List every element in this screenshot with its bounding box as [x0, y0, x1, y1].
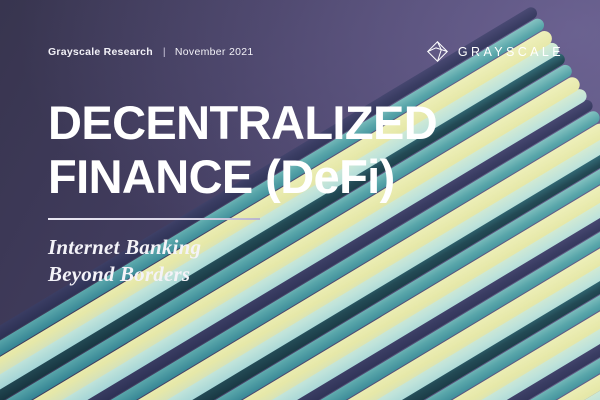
- title-block: DECENTRALIZED FINANCE (DeFi): [48, 96, 588, 204]
- subtitle-line-2: Beyond Borders: [48, 261, 448, 288]
- title-line-2: FINANCE (DeFi): [48, 150, 588, 204]
- publisher-name: Grayscale Research: [48, 46, 153, 58]
- subtitle-line-1: Internet Banking: [48, 235, 201, 259]
- title-divider-rule: [48, 218, 260, 220]
- dateline-separator: |: [163, 46, 166, 58]
- publication-date: November 2021: [175, 46, 254, 58]
- cover-header: Grayscale Research | November 2021 GRAYS…: [48, 40, 564, 63]
- grayscale-wordmark: GRAYSCALE: [458, 45, 564, 59]
- publisher-dateline: Grayscale Research | November 2021: [48, 46, 254, 58]
- grayscale-logo: GRAYSCALE: [426, 40, 564, 63]
- title-line-1: DECENTRALIZED: [48, 96, 588, 150]
- subtitle-block: Internet Banking Beyond Borders: [48, 234, 448, 288]
- report-cover: Grayscale Research | November 2021 GRAYS…: [0, 0, 600, 400]
- grayscale-diamond-icon: [426, 40, 449, 63]
